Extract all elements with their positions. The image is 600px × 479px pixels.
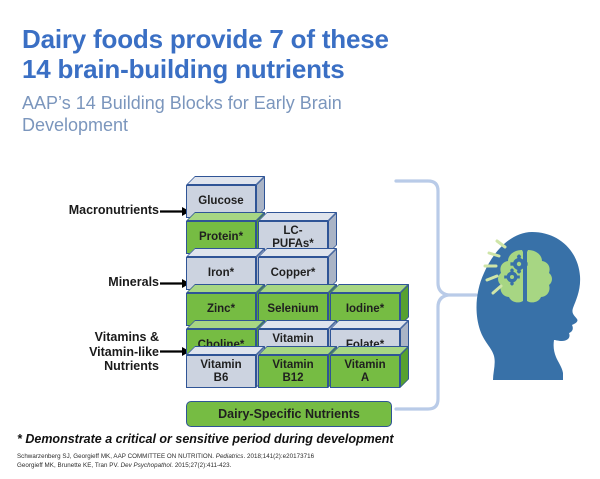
nutrient-block-iron[interactable]: Iron*: [186, 257, 256, 290]
page-title: Dairy foods provide 7 of these 14 brain-…: [22, 24, 462, 84]
citation-1-journal: Pediatrics: [216, 453, 244, 460]
nutrient-block-selenium[interactable]: Selenium: [258, 293, 328, 326]
citation-2-pre: Georgieff MK, Brunette KE, Tran PV.: [17, 462, 121, 469]
page-subtitle: AAP’s 14 Building Blocks for Early Brain…: [22, 92, 462, 136]
category-label-vitamins: Vitamins & Vitamin-like Nutrients: [14, 330, 159, 374]
block-top-face: [258, 212, 337, 221]
citation-2-post: . 2015;27(2):411-423.: [171, 462, 231, 469]
citation-1: Schwarzenberg SJ, Georgieff MK, AAP COMM…: [17, 453, 314, 460]
category-label-macronutrients: Macronutrients: [14, 203, 159, 218]
nutrient-block-lc-pufas[interactable]: LC- PUFAs*: [258, 221, 328, 254]
citation-1-pre: Schwarzenberg SJ, Georgieff MK, AAP COMM…: [17, 453, 216, 460]
block-top-face: [186, 176, 265, 185]
category-label-minerals: Minerals: [14, 275, 159, 290]
nutrient-block-protein[interactable]: Protein*: [186, 221, 256, 254]
legend-dairy-specific: Dairy-Specific Nutrients: [186, 401, 392, 427]
title-area: Dairy foods provide 7 of these 14 brain-…: [22, 24, 462, 136]
footnote-asterisk: * Demonstrate a critical or sensitive pe…: [17, 432, 394, 446]
child-head-brain-icon: [470, 228, 590, 388]
legend-label: Dairy-Specific Nutrients: [218, 407, 360, 421]
nutrient-block-zinc[interactable]: Zinc*: [186, 293, 256, 326]
citation-1-post: . 2018;141(2):e20173716: [243, 453, 314, 460]
block-side-face: [328, 248, 337, 290]
nutrient-block-glucose[interactable]: Glucose: [186, 185, 256, 218]
block-side-face: [328, 212, 337, 254]
nutrient-block-vitamin-b12[interactable]: Vitamin B12: [258, 355, 328, 388]
citation-2: Georgieff MK, Brunette KE, Tran PV. Dev …: [17, 462, 231, 469]
nutrient-block-vitamin-b6[interactable]: Vitamin B6: [186, 355, 256, 388]
block-side-face: [256, 176, 265, 218]
citation-2-journal: Dev Psychopathol: [121, 462, 172, 469]
nutrient-block-copper[interactable]: Copper*: [258, 257, 328, 290]
